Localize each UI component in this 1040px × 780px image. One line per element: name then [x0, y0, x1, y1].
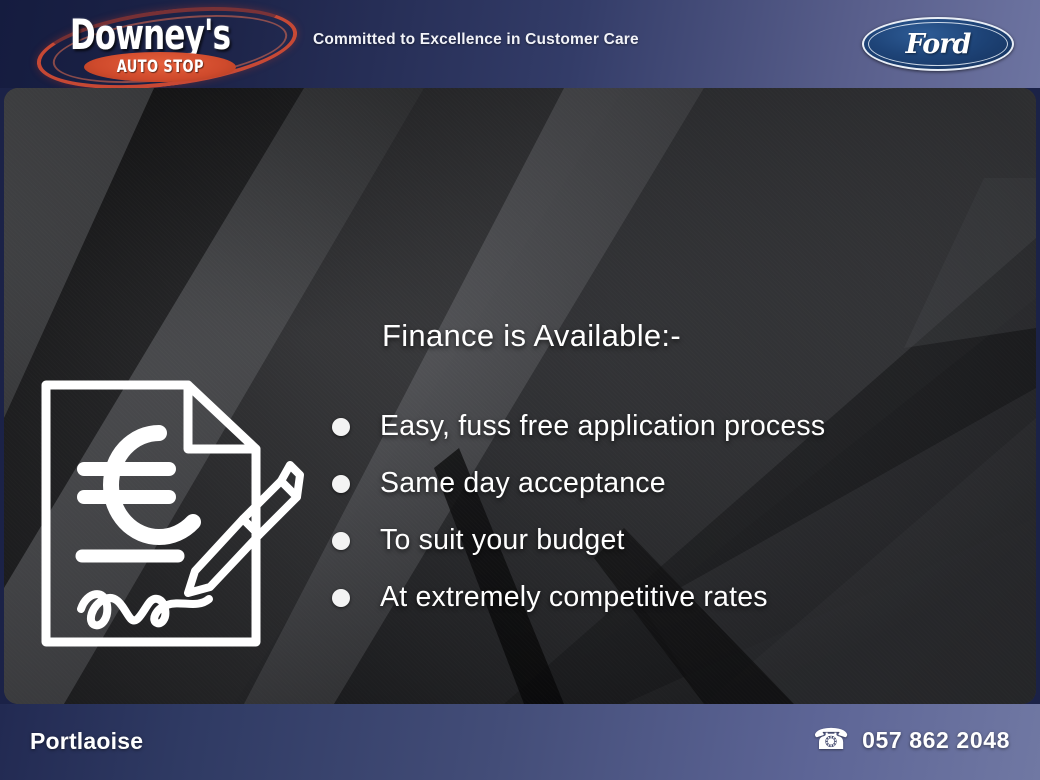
page-title: Finance is Available:-	[382, 318, 681, 354]
list-item: Easy, fuss free application process	[332, 398, 825, 455]
advertisement-banner: Downey's AUTO STOP Committed to Excellen…	[0, 0, 1040, 780]
contact-phone[interactable]: ☎ 057 862 2048	[813, 726, 1010, 754]
header-bar: Downey's AUTO STOP Committed to Excellen…	[0, 0, 1040, 88]
main-panel: Finance is Available:- Easy, fuss free a…	[4, 88, 1036, 704]
euro-document-signature-icon	[38, 371, 310, 656]
benefits-list: Easy, fuss free application process Same…	[332, 398, 825, 626]
bullet-dot-icon	[332, 589, 350, 607]
downeys-logo[interactable]: Downey's AUTO STOP	[18, 4, 290, 84]
bullet-dot-icon	[332, 475, 350, 493]
telephone-icon: ☎	[813, 726, 849, 754]
euro-document-signature-svg	[38, 371, 310, 656]
list-item-label: At extremely competitive rates	[380, 581, 768, 614]
header-tagline: Committed to Excellence in Customer Care	[313, 31, 639, 49]
list-item-label: To suit your budget	[380, 524, 625, 557]
logo-sub-oval: AUTO STOP	[84, 52, 236, 82]
ford-logo-text: Ford	[862, 17, 1014, 71]
bullet-dot-icon	[332, 532, 350, 550]
bullet-dot-icon	[332, 418, 350, 436]
list-item: To suit your budget	[332, 512, 825, 569]
list-item-label: Same day acceptance	[380, 467, 666, 500]
location-label: Portlaoise	[30, 728, 143, 755]
list-item-label: Easy, fuss free application process	[380, 410, 825, 443]
ford-logo[interactable]: Ford	[862, 17, 1014, 71]
list-item: Same day acceptance	[332, 455, 825, 512]
footer-bar: Portlaoise ☎ 057 862 2048	[0, 704, 1040, 780]
logo-brand-sub: AUTO STOP	[116, 57, 203, 77]
phone-number: 057 862 2048	[862, 727, 1010, 754]
list-item: At extremely competitive rates	[332, 569, 825, 626]
